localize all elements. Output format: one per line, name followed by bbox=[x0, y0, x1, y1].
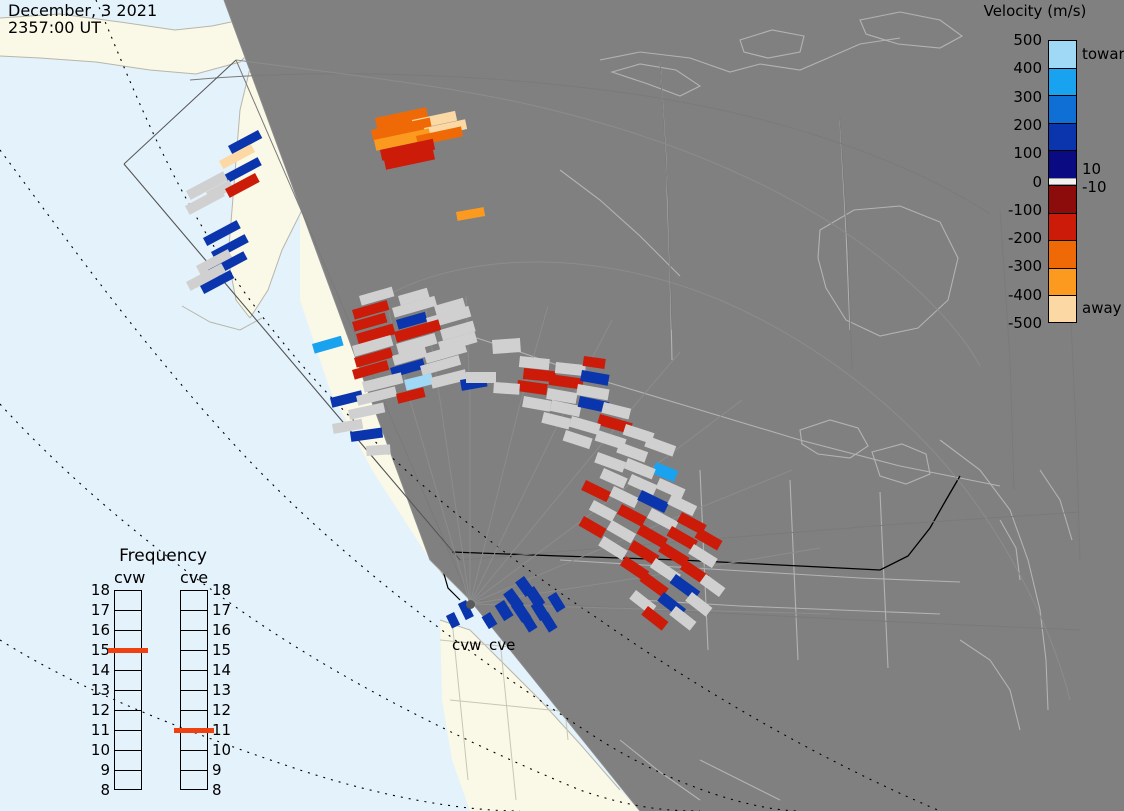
colorbar-tick-label: 500 bbox=[960, 31, 1042, 49]
colorbar-band bbox=[1048, 40, 1077, 68]
frequency-axis-label: 11 bbox=[212, 721, 234, 739]
colorbar-tick-label: -400 bbox=[960, 286, 1042, 304]
velocity-away-label: away bbox=[1082, 299, 1122, 317]
frequency-axis-label: 12 bbox=[88, 701, 110, 719]
frequency-cell bbox=[115, 731, 141, 751]
frequency-column-header-cvw: cvw bbox=[114, 568, 145, 587]
frequency-axis-label: 10 bbox=[88, 741, 110, 759]
frequency-axis-label: 12 bbox=[212, 701, 234, 719]
frequency-cell bbox=[115, 751, 141, 771]
frequency-cell bbox=[181, 731, 207, 751]
velocity-cell bbox=[594, 452, 626, 473]
velocity-cell bbox=[685, 592, 712, 617]
velocity-cell bbox=[583, 356, 606, 369]
frequency-axis-label: 9 bbox=[212, 761, 234, 779]
colorbar-band bbox=[1048, 185, 1077, 213]
velocity-cell bbox=[652, 462, 679, 482]
velocity-cell bbox=[312, 336, 344, 354]
frequency-cell bbox=[181, 611, 207, 631]
velocity-colorbar bbox=[1048, 40, 1077, 323]
frequency-cell bbox=[115, 771, 141, 791]
velocity-cell bbox=[466, 372, 496, 383]
velocity-cell bbox=[348, 403, 385, 420]
frequency-cell bbox=[181, 631, 207, 651]
colorbar-tick-label: 400 bbox=[960, 59, 1042, 77]
radar-fan-plot: cvw cve December, 3 2021 2357:00 UT Velo… bbox=[0, 0, 1124, 811]
colorbar-tick-label: 200 bbox=[960, 116, 1042, 134]
frequency-marker-cve bbox=[174, 728, 214, 733]
frequency-column-header-cve: cve bbox=[180, 568, 208, 587]
velocity-cell bbox=[396, 387, 426, 403]
velocity-cell bbox=[644, 436, 676, 457]
colorbar-band bbox=[1048, 213, 1077, 241]
velocity-cell bbox=[563, 430, 593, 449]
velocity-cell bbox=[493, 382, 520, 395]
frequency-axis-label: 8 bbox=[212, 781, 234, 799]
velocity-cell bbox=[700, 574, 726, 597]
colorbar-band bbox=[1048, 268, 1077, 296]
velocity-cell bbox=[516, 380, 547, 395]
frequency-cell bbox=[115, 611, 141, 631]
frequency-cell bbox=[181, 751, 207, 771]
colorbar-tick-label: 0 bbox=[960, 173, 1042, 191]
velocity-cell bbox=[548, 592, 566, 613]
colorbar-tick-label: 300 bbox=[960, 88, 1042, 106]
timestamp-label: December, 3 2021 2357:00 UT bbox=[8, 2, 157, 36]
frequency-axis-label: 10 bbox=[212, 741, 234, 759]
velocity-cell bbox=[641, 606, 668, 631]
frequency-axis-label: 13 bbox=[212, 681, 234, 699]
frequency-scale-cve bbox=[180, 590, 208, 790]
colorbar-tick-label: -300 bbox=[960, 257, 1042, 275]
frequency-cell bbox=[115, 651, 141, 671]
frequency-cell bbox=[115, 591, 141, 611]
frequency-cell bbox=[181, 691, 207, 711]
velocity-cell bbox=[492, 338, 521, 354]
velocity-cell bbox=[366, 444, 391, 456]
frequency-axis-label: 14 bbox=[88, 661, 110, 679]
frequency-cell bbox=[115, 691, 141, 711]
colorbar-tick-label: -100 bbox=[960, 201, 1042, 219]
frequency-cell bbox=[181, 651, 207, 671]
frequency-axis-label: 17 bbox=[88, 601, 110, 619]
frequency-axis-label: 17 bbox=[212, 601, 234, 619]
colorbar-band bbox=[1048, 68, 1077, 96]
frequency-cell bbox=[181, 671, 207, 691]
frequency-cell bbox=[115, 671, 141, 691]
velocity-inner-high-label: 10 bbox=[1082, 160, 1101, 178]
frequency-cell bbox=[181, 771, 207, 791]
station-label-cvw: cvw bbox=[452, 636, 481, 654]
velocity-colorbar-legend: Velocity (m/s) 5004003002001000-100-200-… bbox=[960, 0, 1124, 340]
frequency-axis-label: 18 bbox=[212, 581, 234, 599]
frequency-legend: Frequency cvw cve 1818171716161515141413… bbox=[92, 546, 242, 786]
colorbar-tick-label: -500 bbox=[960, 314, 1042, 332]
station-label-cve: cve bbox=[489, 636, 515, 654]
velocity-inner-low-label: -10 bbox=[1082, 178, 1107, 196]
velocity-cell bbox=[482, 612, 498, 629]
velocity-cell bbox=[579, 516, 607, 539]
velocity-cell bbox=[456, 207, 485, 221]
colorbar-band bbox=[1048, 240, 1077, 268]
frequency-axis-label: 8 bbox=[88, 781, 110, 799]
radar-station-marker bbox=[466, 600, 475, 609]
colorbar-band bbox=[1048, 295, 1077, 323]
colorbar-band bbox=[1048, 150, 1077, 178]
frequency-axis-label: 11 bbox=[88, 721, 110, 739]
frequency-axis-label: 15 bbox=[212, 641, 234, 659]
velocity-cell bbox=[589, 500, 617, 522]
frequency-marker-cvw bbox=[108, 648, 148, 653]
velocity-toward-label: toward bbox=[1082, 45, 1124, 63]
velocity-cell bbox=[446, 612, 460, 629]
velocity-legend-title: Velocity (m/s) bbox=[960, 2, 1110, 20]
velocity-cell bbox=[541, 412, 571, 429]
frequency-axis-label: 13 bbox=[88, 681, 110, 699]
frequency-axis-label: 14 bbox=[212, 661, 234, 679]
velocity-cell bbox=[581, 480, 611, 502]
frequency-axis-label: 18 bbox=[88, 581, 110, 599]
frequency-cell bbox=[181, 591, 207, 611]
frequency-cell bbox=[115, 711, 141, 731]
colorbar-band bbox=[1048, 95, 1077, 123]
frequency-axis-label: 9 bbox=[88, 761, 110, 779]
colorbar-tick-label: -200 bbox=[960, 229, 1042, 247]
frequency-scale-cvw bbox=[114, 590, 142, 790]
velocity-cell bbox=[520, 612, 538, 633]
frequency-axis-label: 16 bbox=[88, 621, 110, 639]
velocity-cell bbox=[580, 370, 609, 386]
colorbar-tick-label: 100 bbox=[960, 144, 1042, 162]
frequency-legend-title: Frequency bbox=[108, 546, 218, 566]
velocity-cell bbox=[540, 612, 558, 633]
frequency-axis-label: 15 bbox=[88, 641, 110, 659]
frequency-axis-label: 16 bbox=[212, 621, 234, 639]
colorbar-band bbox=[1048, 178, 1077, 185]
colorbar-band bbox=[1048, 123, 1077, 151]
